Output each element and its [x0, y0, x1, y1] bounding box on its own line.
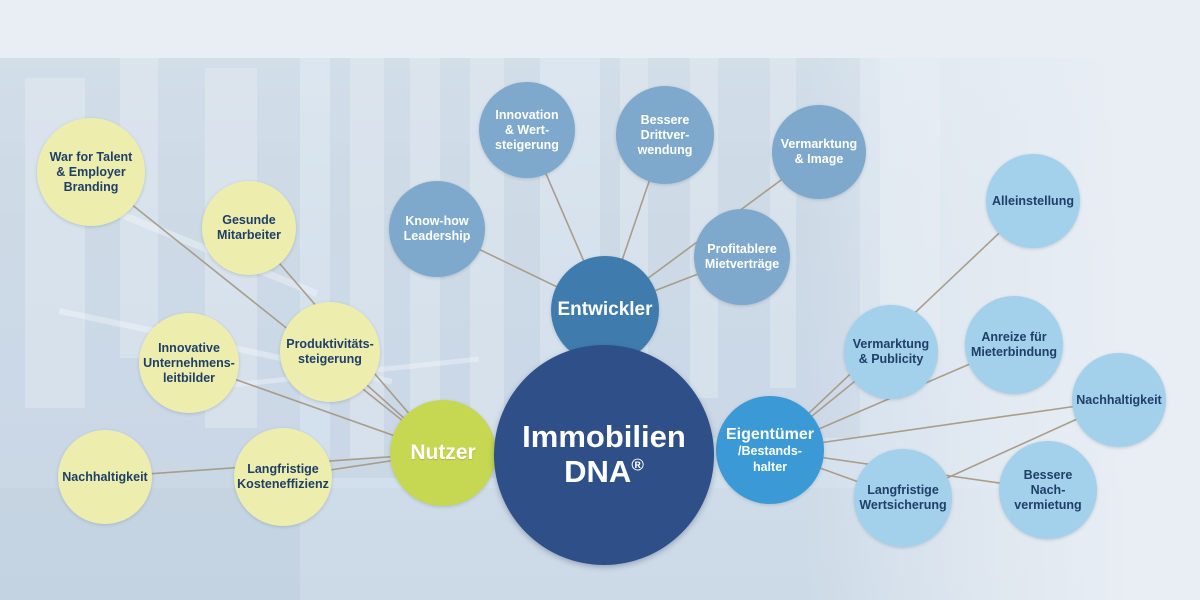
satellite-label: LangfristigeKosteneffizienz	[231, 462, 335, 492]
satellite-label: Innovation& Wert-steigerung	[489, 108, 565, 153]
satellite-node-know-how-leadership[interactable]: Know-howLeadership	[389, 181, 485, 277]
satellite-node-profitablere-mietvertraege[interactable]: ProfitablereMietverträge	[694, 209, 790, 305]
hub-immobilien-dna[interactable]: Immobilien DNA®	[494, 345, 714, 565]
satellite-label: Produktivitäts-steigerung	[280, 337, 380, 367]
satellite-label: Alleinstellung	[986, 194, 1080, 209]
satellite-label: ProfitablereMietverträge	[699, 242, 785, 272]
satellite-node-bessere-nachvermietung[interactable]: Bessere Nach-vermietung	[999, 441, 1097, 539]
category-node-nutzer[interactable]: Nutzer	[390, 400, 496, 506]
satellite-node-nachhaltigkeit-links[interactable]: Nachhaltigkeit	[58, 430, 152, 524]
satellite-label: GesundeMitarbeiter	[211, 213, 287, 243]
satellite-node-alleinstellung[interactable]: Alleinstellung	[986, 154, 1080, 248]
satellite-label: Nachhaltigkeit	[56, 470, 153, 485]
satellite-node-vermarktung-publicity[interactable]: Vermarktung& Publicity	[844, 305, 938, 399]
satellite-label: War for Talent& EmployerBranding	[44, 150, 139, 195]
category-sublabel-line2: halter	[726, 460, 814, 476]
satellite-node-langfristige-wertsicherung[interactable]: LangfristigeWertsicherung	[854, 449, 952, 547]
satellite-node-nachhaltigkeit-rechts[interactable]: Nachhaltigkeit	[1072, 353, 1166, 447]
diagram-canvas: Immobilien DNA® Nutzer Entwickler Eigent…	[0, 0, 1200, 600]
satellite-label: Anreize fürMieterbindung	[965, 330, 1063, 360]
satellite-label: LangfristigeWertsicherung	[853, 483, 952, 513]
satellite-node-innovative-unternehmensleitbilder[interactable]: InnovativeUnternehmens-leitbilder	[139, 313, 239, 413]
category-node-eigentuemer[interactable]: Eigentümer /Bestands- halter	[716, 396, 824, 504]
satellite-node-innovation-wertsteigerung[interactable]: Innovation& Wert-steigerung	[479, 82, 575, 178]
satellite-node-produktivitaetssteigerung[interactable]: Produktivitäts-steigerung	[280, 302, 380, 402]
category-sublabel-line1: /Bestands-	[726, 444, 814, 460]
category-label: Nutzer	[404, 440, 481, 465]
satellite-node-bessere-drittverwendung[interactable]: BessereDrittver-wendung	[616, 86, 714, 184]
hub-label: Immobilien DNA®	[516, 420, 692, 489]
satellite-label: BessereDrittver-wendung	[632, 113, 699, 158]
satellite-node-vermarktung-image[interactable]: Vermarktung& Image	[772, 105, 866, 199]
satellite-label: Bessere Nach-vermietung	[999, 468, 1097, 513]
satellite-node-anreize-fuer-mieterbindung[interactable]: Anreize fürMieterbindung	[965, 296, 1063, 394]
satellite-node-war-for-talent[interactable]: War for Talent& EmployerBranding	[37, 118, 145, 226]
satellite-label: Vermarktung& Image	[775, 137, 863, 167]
satellite-label: Know-howLeadership	[398, 214, 477, 244]
category-label: Eigentümer /Bestands- halter	[720, 425, 820, 475]
satellite-label: Nachhaltigkeit	[1070, 393, 1167, 408]
category-label: Entwickler	[551, 299, 658, 322]
satellite-label: InnovativeUnternehmens-leitbilder	[137, 341, 241, 386]
satellite-label: Vermarktung& Publicity	[847, 337, 935, 367]
registered-trademark-icon: ®	[631, 456, 644, 475]
satellite-node-gesunde-mitarbeiter[interactable]: GesundeMitarbeiter	[202, 181, 296, 275]
satellite-node-langfristige-kosteneffizienz[interactable]: LangfristigeKosteneffizienz	[234, 428, 332, 526]
